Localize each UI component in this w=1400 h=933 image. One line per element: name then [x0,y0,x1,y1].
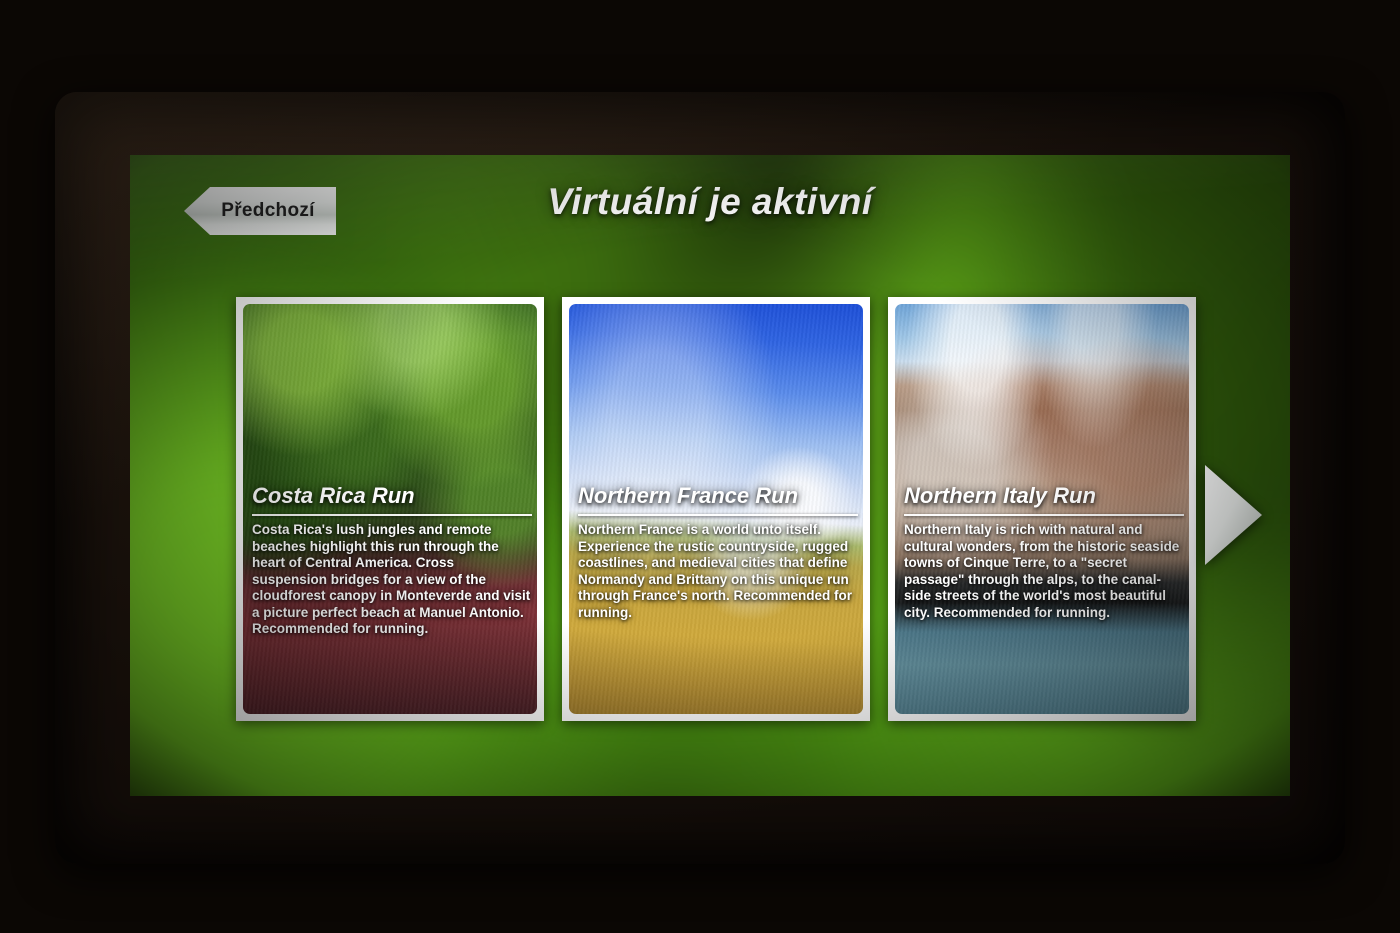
run-card-northern-italy[interactable]: Northern Italy Run Northern Italy is ric… [888,297,1196,721]
card-description: Costa Rica's lush jungles and remote bea… [252,522,532,638]
run-card-list: Costa Rica Run Costa Rica's lush jungles… [236,297,1196,721]
card-text-block: Northern Italy Run Northern Italy is ric… [904,483,1184,621]
photo-of-monitor: Předchozí Virtuální je aktivní Costa Ric… [0,0,1400,933]
card-description: Northern France is a world unto itself. … [578,522,858,621]
card-title: Costa Rica Run [252,483,532,509]
page-title: Virtuální je aktivní [130,181,1290,223]
card-title: Northern France Run [578,483,858,509]
card-text-block: Northern France Run Northern France is a… [578,483,858,621]
card-title-rule [252,514,532,516]
card-title-rule [578,514,858,516]
card-text-block: Costa Rica Run Costa Rica's lush jungles… [252,483,532,638]
triangle-right-icon [1205,465,1262,565]
run-card-northern-france[interactable]: Northern France Run Northern France is a… [562,297,870,721]
card-title: Northern Italy Run [904,483,1184,509]
run-card-costa-rica[interactable]: Costa Rica Run Costa Rica's lush jungles… [236,297,544,721]
card-description: Northern Italy is rich with natural and … [904,522,1184,621]
card-title-rule [904,514,1184,516]
next-arrow-button[interactable] [1202,463,1264,567]
screen-content: Předchozí Virtuální je aktivní Costa Ric… [130,155,1290,796]
